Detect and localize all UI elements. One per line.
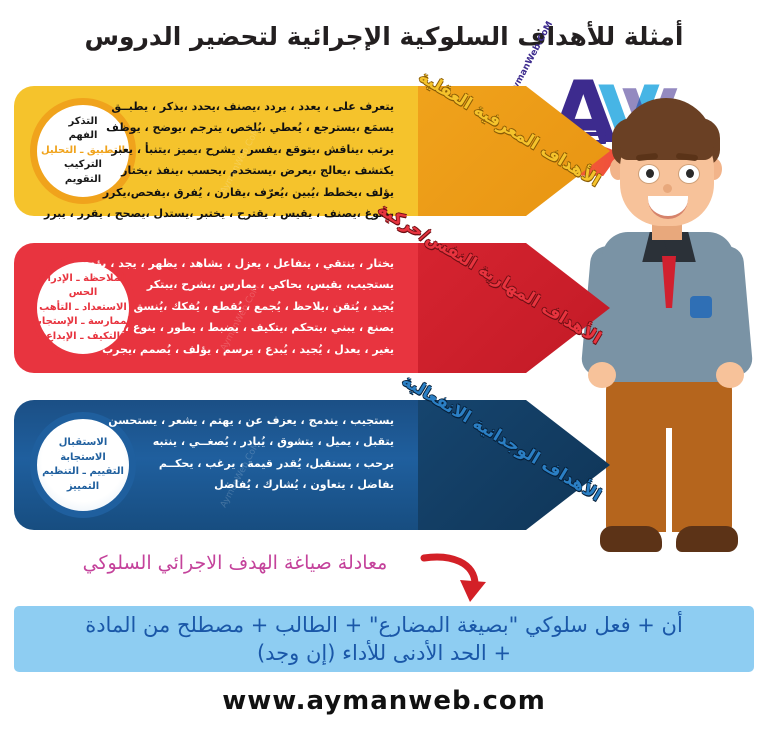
character-badge — [690, 296, 712, 318]
curved-arrow-icon — [420, 552, 490, 604]
character-hand-right — [716, 362, 744, 388]
verb-list-affective: يستجيب ، يندمج ، يعزف عن ، يهتم ، يشعر ،… — [136, 410, 394, 496]
arrow-shape — [410, 243, 610, 373]
banner-arrow-head-affective: الأهداف الوجدانية الانفعالية — [410, 400, 610, 530]
taxonomy-level: التقويم — [65, 173, 101, 188]
verb-line: يسمَع ،يسترجع ، يُعطي ،يُلخص، يترجم ،يوض… — [136, 117, 394, 138]
verb-line: يستجيب ، يندمج ، يعزف عن ، يهتم ، يشعر ،… — [136, 410, 394, 431]
banner-band-cognitive: التذكرالفهمالتطبيق ـ التحليلالتركيبالتقو… — [14, 86, 418, 216]
verb-line: يصوغ ،يصنف ، يقيس ، يقترح ، يختبر ،يستدل… — [136, 203, 394, 224]
formula-line-1: أن + فعل سلوكي "بصيغة المضارع" + الطالب … — [85, 611, 683, 639]
arrow-shape — [410, 86, 610, 216]
banner-arrow-head-psychomotor: الأهداف المهارية النفس/حركية — [410, 243, 610, 373]
infographic-canvas: أمثلة للأهداف السلوكية الإجرائية لتحضير … — [0, 0, 768, 732]
formula-caption: معادلة صياغة الهدف الاجرائي السلوكي — [0, 552, 470, 574]
verb-line: يؤلف ،يخطط ،يُبين ،يُعرّف ،يقارن ، يُفرق… — [136, 182, 394, 203]
character-shoe-right — [676, 526, 738, 552]
taxonomy-level: التذكر — [68, 115, 97, 130]
arrow-shape — [410, 400, 610, 530]
character-leg-split — [666, 428, 672, 534]
verb-line: يتقبل ، يميل ، يتشوق ، يُبادر ، يُصغــي … — [136, 431, 394, 452]
verb-line: يرحب ، يستقبل، يُقدر قيمة ، يرغب ، يحكــ… — [136, 453, 394, 474]
character-pupil-left — [646, 169, 654, 178]
verb-line: يختار ، ينتقي ، يتفاعل ، يعزل ، يشاهد ، … — [136, 253, 394, 274]
banner-arrow-head-cognitive: الأهداف المعرفية العقلية — [410, 86, 610, 216]
verb-list-psychomotor: يختار ، ينتقي ، يتفاعل ، يعزل ، يشاهد ، … — [136, 253, 394, 360]
character-pupil-right — [686, 169, 694, 178]
verb-line: يرتب ،يناقش ،يتوقع ،يفسر ، يشرح ،يميز ،ي… — [136, 139, 394, 160]
character-fringe — [618, 118, 716, 152]
taxonomy-level: الحس — [69, 286, 98, 301]
taxonomy-level: الاستقبال — [59, 436, 108, 451]
taxonomy-level: التمييز — [67, 480, 99, 495]
taxonomy-level: الفهم — [69, 129, 98, 144]
verb-line: يغير ، يعدل ، يُجيد ، يُبدع ، يرسم ، يؤل… — [136, 339, 394, 360]
page-title: أمثلة للأهداف السلوكية الإجرائية لتحضير … — [0, 22, 768, 51]
verb-line: يُجيد ، يُتقن ،يلاحظ ، يُجمع ، يُقطع ، ي… — [136, 296, 394, 317]
verb-line: يصنع ، يبني ،يتحكم ،يتكيف ، يضبط ، يطور … — [136, 317, 394, 338]
taxonomy-level: الاستعداد ـ التأهب — [39, 301, 127, 316]
banner-band-affective: الاستقبالالاستجابةالتقييم ـ التنظيمالتمي… — [14, 400, 418, 530]
taxonomy-level: التقييم ـ التنظيم — [42, 465, 124, 480]
verb-line: يستجيب، يقيس، يحاكي ، يمارس ،يشرح ،يبتكر — [136, 274, 394, 295]
taxonomy-level: التركيب — [64, 158, 102, 173]
character-nose — [663, 184, 672, 193]
verb-list-cognitive: يتعرف على ، يعدد ، يردد ،يصنف ،يحدد ،يذك… — [136, 96, 394, 225]
footer-website-url: www.aymanweb.com — [0, 686, 768, 716]
verb-line: يفاضل ، يتعاون ، يُشارك ، يُفاضل — [136, 474, 394, 495]
taxonomy-level: الاستجابة — [60, 451, 106, 466]
formula-line-2: + الحد الأدنى للأداء (إن وجد) — [85, 639, 683, 667]
verb-line: يكتشف ،يعالج ،يعرض ،يستخدم ،يحسب ،ينفذ ،… — [136, 160, 394, 181]
verb-line: يتعرف على ، يعدد ، يردد ،يصنف ،يحدد ،يذك… — [136, 96, 394, 117]
banner-band-psychomotor: الملاحظة ـ الإدراكالحسالاستعداد ـ التأهب… — [14, 243, 418, 373]
behavioral-objective-formula-box: أن + فعل سلوكي "بصيغة المضارع" + الطالب … — [14, 606, 754, 672]
